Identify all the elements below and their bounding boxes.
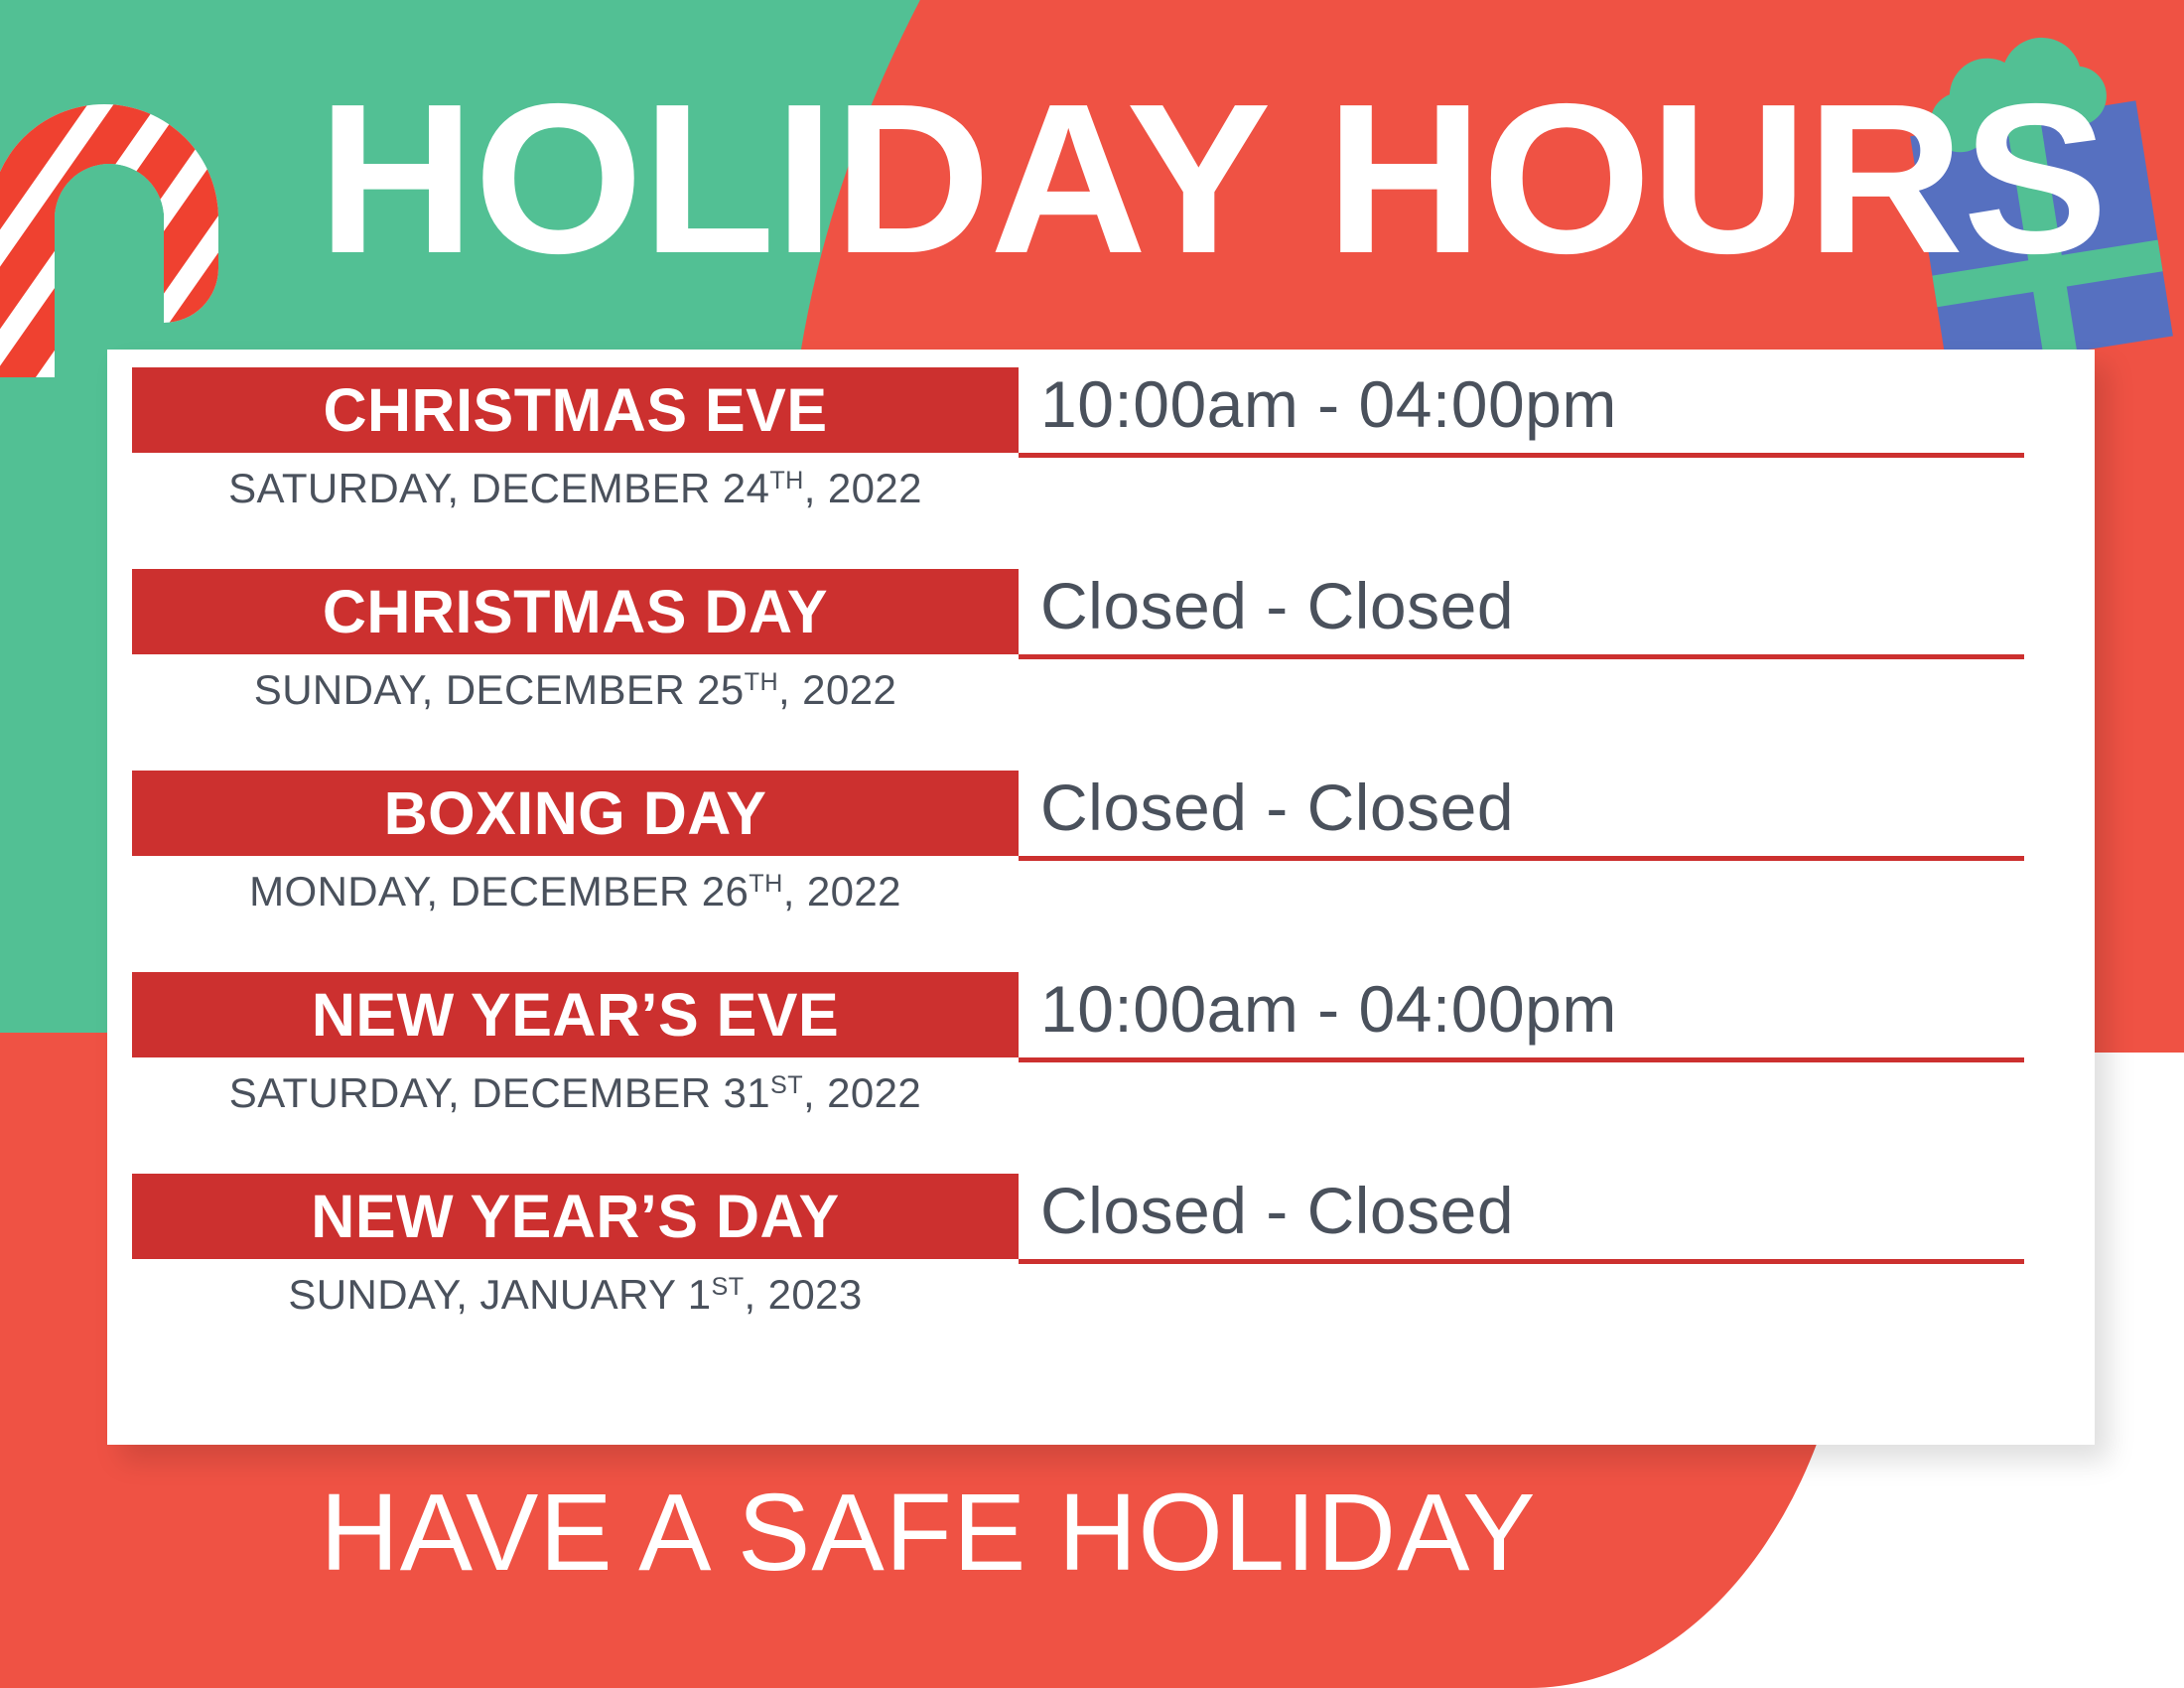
table-row: CHRISTMAS EVE 10:00am - 04:00pm SATURDAY… — [107, 350, 2095, 551]
date-prefix: SATURDAY, DECEMBER 31 — [229, 1069, 770, 1116]
row-top: NEW YEAR’S DAY Closed - Closed — [107, 1156, 2095, 1259]
holiday-name-bar: BOXING DAY — [132, 771, 1019, 856]
table-row: BOXING DAY Closed - Closed MONDAY, DECEM… — [107, 753, 2095, 954]
hours-underline — [1019, 1057, 2024, 1062]
holiday-hours-value: Closed - Closed — [1040, 1162, 2073, 1259]
date-tail: , 2022 — [778, 666, 896, 713]
holiday-date: MONDAY, DECEMBER 26TH, 2022 — [132, 868, 1019, 915]
date-ordinal: TH — [749, 870, 782, 898]
holiday-hours-value: 10:00am - 04:00pm — [1040, 960, 2073, 1057]
date-ordinal: TH — [745, 668, 778, 696]
row-top: BOXING DAY Closed - Closed — [107, 753, 2095, 856]
holiday-date: SATURDAY, DECEMBER 31ST, 2022 — [132, 1069, 1019, 1117]
holiday-date: SUNDAY, DECEMBER 25TH, 2022 — [132, 666, 1019, 714]
holiday-name: CHRISTMAS EVE — [323, 380, 827, 441]
table-row: NEW YEAR’S EVE 10:00am - 04:00pm SATURDA… — [107, 954, 2095, 1156]
holiday-name-bar: CHRISTMAS DAY — [132, 569, 1019, 654]
holiday-name: NEW YEAR’S DAY — [311, 1187, 839, 1247]
date-prefix: MONDAY, DECEMBER 26 — [249, 868, 749, 914]
date-prefix: SUNDAY, JANUARY 1 — [288, 1271, 711, 1318]
hours-underline — [1019, 856, 2024, 861]
date-tail: , 2022 — [804, 465, 922, 511]
date-tail: , 2022 — [783, 868, 901, 914]
page-title: HOLIDAY HOURS — [318, 71, 1979, 285]
holiday-hours-value: 10:00am - 04:00pm — [1040, 355, 2073, 453]
holiday-name: NEW YEAR’S EVE — [312, 985, 839, 1046]
hours-underline — [1019, 453, 2024, 458]
table-row: CHRISTMAS DAY Closed - Closed SUNDAY, DE… — [107, 551, 2095, 753]
hours-underline — [1019, 654, 2024, 659]
date-prefix: SUNDAY, DECEMBER 25 — [254, 666, 745, 713]
holiday-hours-poster: HOLIDAY HOURS CHRISTMAS EVE 10:00am - 04… — [0, 0, 2184, 1688]
date-ordinal: TH — [769, 467, 803, 494]
holiday-date: SUNDAY, JANUARY 1ST, 2023 — [132, 1271, 1019, 1319]
row-top: NEW YEAR’S EVE 10:00am - 04:00pm — [107, 954, 2095, 1057]
holiday-name: BOXING DAY — [384, 783, 767, 844]
date-ordinal: ST — [770, 1071, 803, 1099]
holiday-name-bar: CHRISTMAS EVE — [132, 367, 1019, 453]
date-prefix: SATURDAY, DECEMBER 24 — [228, 465, 769, 511]
holiday-name-bar: NEW YEAR’S EVE — [132, 972, 1019, 1057]
date-ordinal: ST — [712, 1273, 745, 1301]
holiday-hours-value: Closed - Closed — [1040, 557, 2073, 654]
table-row: NEW YEAR’S DAY Closed - Closed SUNDAY, J… — [107, 1156, 2095, 1369]
row-top: CHRISTMAS EVE 10:00am - 04:00pm — [107, 350, 2095, 453]
footer-message: HAVE A SAFE HOLIDAY — [0, 1470, 1856, 1596]
holiday-name: CHRISTMAS DAY — [323, 582, 828, 642]
hours-underline — [1019, 1259, 2024, 1264]
date-tail: , 2023 — [745, 1271, 863, 1318]
date-tail: , 2022 — [803, 1069, 921, 1116]
hours-table: CHRISTMAS EVE 10:00am - 04:00pm SATURDAY… — [107, 350, 2095, 1369]
holiday-date: SATURDAY, DECEMBER 24TH, 2022 — [132, 465, 1019, 512]
candy-cane-icon — [0, 20, 278, 377]
row-top: CHRISTMAS DAY Closed - Closed — [107, 551, 2095, 654]
holiday-name-bar: NEW YEAR’S DAY — [132, 1174, 1019, 1259]
holiday-hours-value: Closed - Closed — [1040, 759, 2073, 856]
